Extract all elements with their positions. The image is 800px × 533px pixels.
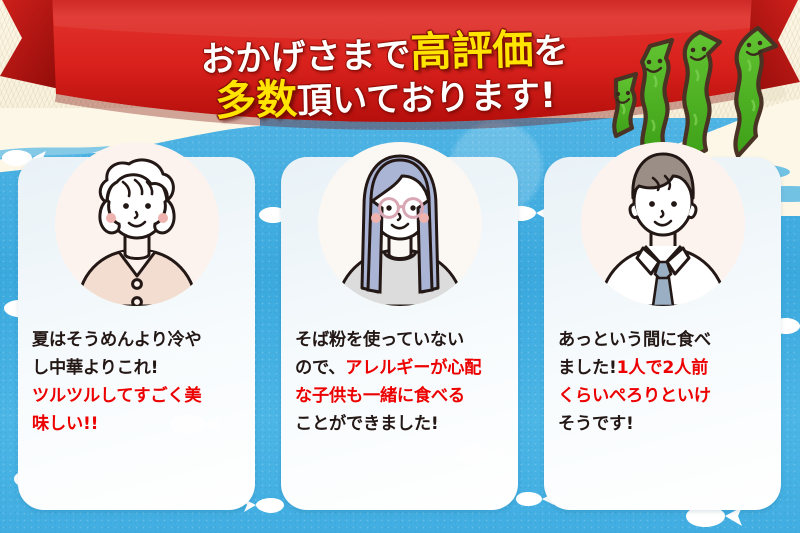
testimonial-cards: 夏はそうめんより冷や し中華よりこれ! ツルツルしてすごく美 味しい!! そば粉… <box>0 0 800 533</box>
testimonial-line: な子供も一緒に食べる <box>295 383 503 411</box>
testimonial-text: あっという間に食べ ました!1人で2人前 くらいぺろりといけ そうです! <box>558 327 766 438</box>
testimonial-line: ました!1人で2人前 <box>558 355 766 383</box>
text-highlight: な子供も一緒に食べる <box>295 386 465 406</box>
text-segment: し中華よりこれ! <box>32 358 158 378</box>
text-highlight: 1人で2人前 <box>617 358 708 378</box>
text-segment: そうです! <box>558 414 634 434</box>
text-highlight: ツルツルしてすごく美 <box>32 386 201 406</box>
testimonial-line: ので、アレルギーが心配 <box>295 355 503 383</box>
text-segment: あっという間に食べ <box>558 330 711 350</box>
testimonial-line: そうです! <box>558 411 766 439</box>
promo-banner: おかげさまで高評価を 多数頂いております! <box>0 0 800 533</box>
text-highlight: くらいぺろりといけ <box>558 386 711 406</box>
testimonial-line: 夏はそうめんより冷や <box>32 327 240 355</box>
text-segment: そば粉を使っていない <box>295 330 464 350</box>
testimonial-line: あっという間に食べ <box>558 327 766 355</box>
text-segment: ので、 <box>295 358 345 378</box>
testimonial-line: 味しい!! <box>32 411 240 439</box>
testimonial-line: そば粉を使っていない <box>295 327 503 355</box>
testimonial-line: ツルツルしてすごく美 <box>32 383 240 411</box>
testimonial-text: 夏はそうめんより冷や し中華よりこれ! ツルツルしてすごく美 味しい!! <box>32 327 240 438</box>
text-segment: ことができました! <box>295 414 439 434</box>
text-highlight: アレルギーが心配 <box>345 358 481 378</box>
testimonial-text: そば粉を使っていない ので、アレルギーが心配 な子供も一緒に食べる ことができま… <box>295 327 503 438</box>
text-highlight: 味しい!! <box>32 414 98 434</box>
testimonial-line: し中華よりこれ! <box>32 355 240 383</box>
text-segment: ました! <box>558 358 617 378</box>
testimonial-line: ことができました! <box>295 411 503 439</box>
testimonial-line: くらいぺろりといけ <box>558 383 766 411</box>
text-segment: 夏はそうめんより冷や <box>32 330 202 350</box>
fish-icon <box>457 445 507 463</box>
